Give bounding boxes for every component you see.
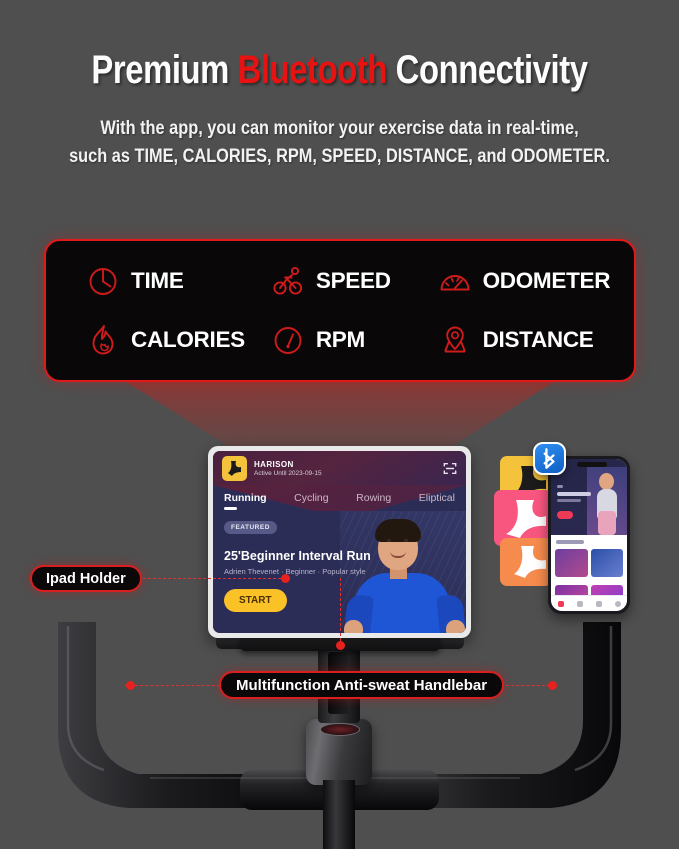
tab-running[interactable]: Running: [224, 492, 267, 511]
app-active-until: Active Until 2023-09-15: [254, 470, 322, 477]
feature-label: RPM: [316, 327, 365, 353]
odometer-icon: [438, 264, 472, 298]
app-tab-bar: Running Cycling Rowing Eliptical: [213, 485, 466, 511]
bluetooth-icon: [533, 442, 566, 475]
headline-part-1: Premium: [91, 48, 237, 92]
feature-label: DISTANCE: [483, 327, 594, 353]
featured-badge: FEATURED: [224, 521, 277, 534]
app-header: HARISON Active Until 2023-09-15: [213, 451, 466, 485]
flame-icon: [86, 323, 120, 357]
phone-screen: [551, 459, 627, 611]
start-button[interactable]: START: [224, 589, 287, 612]
workout-card[interactable]: [555, 549, 588, 577]
harison-logo-icon: [222, 456, 247, 481]
map-pin-icon: [438, 323, 472, 357]
feature-label: SPEED: [316, 268, 391, 294]
leader-line-ipad-vertical: [340, 578, 341, 646]
workout-card[interactable]: [591, 549, 624, 577]
feature-item-odometer: ODOMETER: [412, 264, 620, 298]
app-user-name: HARISON: [254, 460, 322, 469]
feature-item-time: TIME: [60, 264, 245, 298]
feature-label: ODOMETER: [483, 268, 611, 294]
product-feature-graphic: Premium Bluetooth Connectivity With the …: [0, 0, 679, 849]
frame-post: [323, 780, 355, 849]
nav-profile-icon[interactable]: [615, 601, 621, 607]
leader-dot-handlebar-left: [126, 681, 135, 690]
headline-part-2: Connectivity: [387, 48, 588, 92]
leader-dot-ipad: [281, 574, 290, 583]
feature-label: TIME: [131, 268, 184, 294]
callout-handlebar: Multifunction Anti-sweat Handlebar: [219, 671, 504, 699]
phone-section-title: [556, 540, 584, 544]
leader-line-handlebar-left: [125, 685, 225, 686]
cyclist-icon: [271, 264, 305, 298]
subtitle-line-1: With the app, you can monitor your exerc…: [48, 118, 632, 140]
feature-item-rpm: RPM: [245, 323, 412, 357]
clock-icon: [86, 264, 120, 298]
nav-stats-icon[interactable]: [596, 601, 602, 607]
clamp-adjust-ring[interactable]: [320, 723, 360, 736]
phone-hero-photo: [587, 467, 627, 535]
course-title: 25'Beginner Interval Run: [224, 549, 371, 563]
feature-item-distance: DISTANCE: [412, 323, 620, 357]
gauge-icon: [271, 323, 305, 357]
headline-accent-bluetooth: Bluetooth: [238, 48, 387, 92]
scan-frame-icon[interactable]: [443, 462, 457, 475]
nav-home-icon[interactable]: [558, 601, 564, 607]
feature-item-speed: SPEED: [245, 264, 412, 298]
feature-item-calories: CALORIES: [60, 323, 245, 357]
page-title: Premium Bluetooth Connectivity: [61, 50, 618, 90]
leader-dot-holder: [336, 641, 345, 650]
tab-eliptical[interactable]: Eliptical: [419, 492, 455, 511]
course-meta: Adrien Thevenet · Beginner · Popular sty…: [224, 567, 366, 576]
subtitle-line-2: such as TIME, CALORIES, RPM, SPEED, DIST…: [48, 146, 632, 168]
feature-label: CALORIES: [131, 327, 245, 353]
callout-ipad-holder: Ipad Holder: [30, 565, 142, 592]
phone-group: [494, 442, 644, 614]
phone-device: [548, 456, 630, 614]
tab-cycling[interactable]: Cycling: [294, 492, 328, 511]
app-tile-orange: [500, 538, 552, 586]
leader-line-ipad: [138, 578, 286, 579]
leader-dot-handlebar-right: [548, 681, 557, 690]
metrics-feature-panel: TIME SPEED ODOMETER: [44, 239, 636, 382]
nav-classes-icon[interactable]: [577, 601, 583, 607]
tab-rowing[interactable]: Rowing: [356, 492, 391, 511]
phone-bottom-nav: [551, 595, 627, 611]
